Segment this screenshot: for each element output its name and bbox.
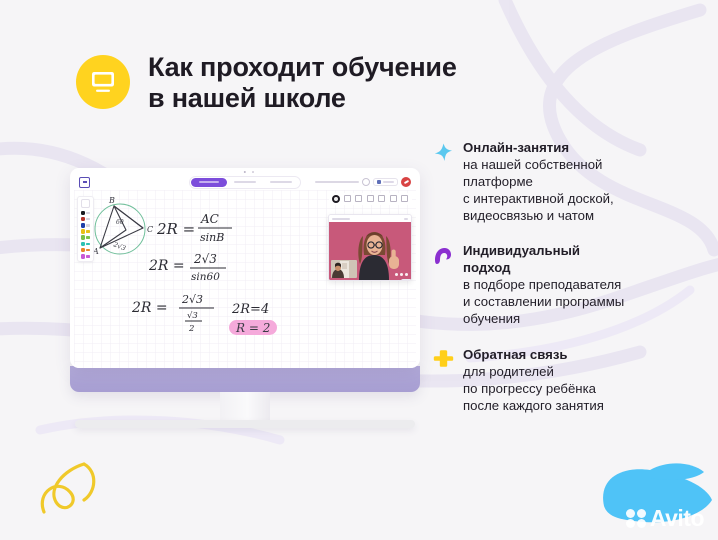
- eraser-icon[interactable]: [343, 195, 352, 204]
- webcam-led-icon: [252, 171, 254, 173]
- more-icon[interactable]: [401, 195, 410, 204]
- three-dots-icon[interactable]: [395, 273, 408, 276]
- monitor-icon-badge: [76, 55, 130, 109]
- swatch-3[interactable]: [81, 223, 91, 228]
- webcam-dot-icon: [244, 171, 246, 173]
- app-tab-switcher[interactable]: [189, 176, 301, 189]
- feature-heading: Обратная связь: [463, 347, 604, 364]
- feature-body: для родителей по прогрессу ребёнка после…: [463, 364, 604, 415]
- video-feed: [329, 222, 411, 280]
- svg-text:2R=4: 2R=4: [231, 302, 269, 317]
- app-body: B A C 60 2√3 2R = AC sinB: [74, 190, 416, 368]
- avito-watermark: Avito: [626, 507, 704, 530]
- video-panel-header: [329, 215, 411, 222]
- undo-icon[interactable]: [378, 195, 387, 204]
- avito-brand-text: Avito: [650, 507, 704, 530]
- picture-in-picture[interactable]: [331, 260, 357, 278]
- board-logo-icon: [79, 177, 90, 188]
- app-top-bar: [74, 174, 416, 190]
- svg-text:2R =: 2R =: [131, 300, 168, 316]
- swatch-2[interactable]: [81, 217, 91, 222]
- app-bar-right: [315, 177, 411, 187]
- monitor-stand: [220, 392, 270, 420]
- svg-text:2√3: 2√3: [193, 252, 217, 266]
- tab-third[interactable]: [263, 178, 299, 187]
- palette-lock-icon[interactable]: [81, 199, 90, 208]
- monitor-screen: B A C 60 2√3 2R = AC sinB: [70, 168, 420, 368]
- svg-text:2R =: 2R =: [156, 220, 195, 238]
- feature-item-individual: Индивидуальный подход в подборе преподав…: [432, 243, 690, 327]
- star-icon: [432, 141, 454, 163]
- svg-text:√3: √3: [187, 311, 198, 321]
- whiteboard-canvas[interactable]: B A C 60 2√3 2R = AC sinB: [74, 190, 416, 368]
- video-call-panel[interactable]: [328, 214, 412, 281]
- feature-heading: Онлайн-занятия: [463, 140, 614, 157]
- feature-text: Индивидуальный подход в подборе преподав…: [463, 243, 624, 327]
- swatch-8[interactable]: [81, 254, 91, 259]
- swatch-4[interactable]: [81, 229, 91, 234]
- end-call-icon[interactable]: [401, 177, 411, 187]
- session-label: [315, 181, 359, 183]
- poster-canvas: Как проходит обучение в нашей школе: [0, 0, 718, 540]
- feature-item-online: Онлайн-занятия на нашей собственной плат…: [432, 140, 690, 224]
- svg-text:2: 2: [188, 324, 194, 334]
- monitor-chin: [70, 366, 420, 392]
- close-icon: [404, 218, 408, 220]
- svg-text:B: B: [108, 196, 115, 205]
- avito-dots-icon: [626, 509, 646, 529]
- whiteboard-app: B A C 60 2√3 2R = AC sinB: [74, 174, 416, 368]
- page-header: Как проходит обучение в нашей школе: [76, 50, 457, 115]
- tab-active[interactable]: [191, 178, 227, 187]
- svg-text:2√3: 2√3: [111, 240, 127, 253]
- shape-icon[interactable]: [366, 195, 375, 204]
- pen-icon[interactable]: [332, 195, 341, 204]
- swatch-1[interactable]: [81, 211, 91, 216]
- svg-text:C: C: [147, 225, 153, 234]
- plus-icon: [432, 348, 454, 370]
- feature-text: Онлайн-занятия на нашей собственной плат…: [463, 140, 614, 224]
- feature-list: Онлайн-занятия на нашей собственной плат…: [432, 140, 690, 433]
- drawing-tools[interactable]: [329, 193, 413, 205]
- share-screen-button[interactable]: [373, 178, 398, 186]
- swatch-6[interactable]: [81, 242, 91, 247]
- swatch-5[interactable]: [81, 235, 91, 240]
- monitor-icon: [89, 69, 117, 95]
- svg-text:sin60: sin60: [191, 271, 220, 283]
- add-icon[interactable]: [389, 195, 398, 204]
- feature-item-feedback: Обратная связь для родителей по прогресс…: [432, 347, 690, 415]
- svg-text:60: 60: [116, 219, 124, 226]
- swatch-7[interactable]: [81, 248, 91, 253]
- gear-icon[interactable]: [362, 178, 370, 186]
- monitor-mockup: B A C 60 2√3 2R = AC sinB: [70, 168, 420, 428]
- note-icon[interactable]: [355, 195, 364, 204]
- tab-second[interactable]: [227, 178, 263, 187]
- page-title: Как проходит обучение в нашей школе: [148, 50, 457, 115]
- color-palette[interactable]: [77, 196, 94, 262]
- feature-text: Обратная связь для родителей по прогресс…: [463, 347, 604, 415]
- monitor-base: [75, 420, 415, 428]
- svg-text:R = 2: R = 2: [235, 321, 270, 335]
- svg-text:sinB: sinB: [200, 231, 224, 244]
- svg-text:2R =: 2R =: [148, 258, 185, 274]
- feature-body: на нашей собственной платформе с интерак…: [463, 157, 614, 225]
- feature-body: в подборе преподавателя и составлении пр…: [463, 277, 624, 328]
- svg-text:AC: AC: [200, 212, 219, 226]
- feature-heading: Индивидуальный подход: [463, 243, 624, 277]
- crescent-icon: [432, 244, 454, 266]
- svg-text:2√3: 2√3: [181, 293, 203, 306]
